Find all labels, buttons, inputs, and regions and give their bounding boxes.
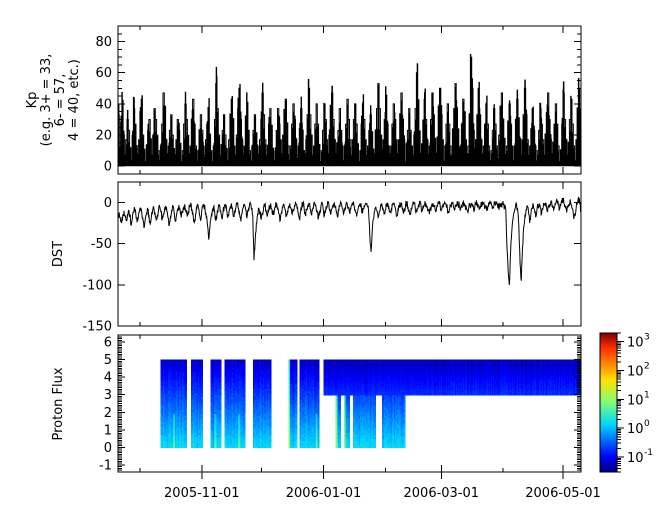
heatmap-cell: [270, 445, 272, 448]
y-tick-label: 40: [95, 97, 112, 112]
heatmap-cell: [238, 445, 240, 448]
kp-axis-title-line4: 4 = 40, etc.): [67, 59, 82, 141]
heatmap-cell: [288, 445, 290, 448]
dst-axis-title: DST: [51, 241, 66, 267]
heatmap-cell: [336, 445, 338, 448]
heatmap-cell: [214, 445, 216, 448]
y-tick-label: 20: [95, 129, 112, 144]
heatmap-cell: [173, 445, 175, 448]
y-tick-label: -50: [91, 237, 112, 252]
y-tick-label: -150: [82, 320, 112, 335]
y-tick-label: 0: [104, 196, 112, 211]
y-tick-label: -100: [82, 278, 112, 293]
y-tick-label: 80: [95, 35, 112, 50]
heatmap-cell: [185, 445, 187, 448]
y-tick-label: 60: [95, 66, 112, 81]
heatmap-cell: [201, 445, 203, 448]
heatmap-cell: [318, 445, 320, 448]
heatmap-cell: [220, 445, 222, 448]
multi-panel-plot: 020406080 Kp (e.g. 3+ = 33, 6- = 57, 4 =…: [0, 0, 665, 523]
heatmap-cell: [339, 445, 341, 448]
y-tick-label: 0: [104, 160, 112, 175]
kp-axis-title-line2: (e.g. 3+ = 33,: [39, 54, 54, 147]
heatmap-cell: [244, 445, 246, 448]
heatmap-cell: [296, 445, 298, 448]
kp-axis-title-line1: Kp: [25, 92, 40, 109]
kp-axis-title-line3: 6- = 57,: [53, 74, 68, 127]
figure-canvas: 020406080 Kp (e.g. 3+ = 33, 6- = 57, 4 =…: [0, 0, 665, 523]
heatmap-cell: [316, 445, 318, 448]
